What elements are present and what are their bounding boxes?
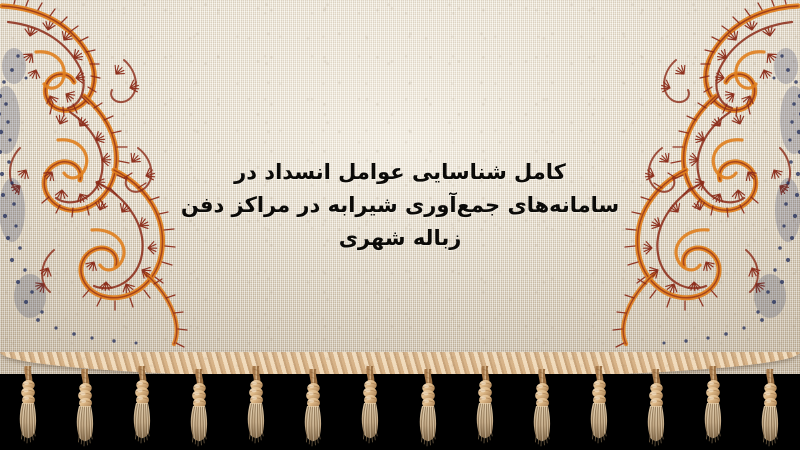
tassel-9: [469, 366, 503, 450]
tassel-7: [354, 366, 388, 450]
tassel-11: [583, 366, 617, 450]
tassel-8: [412, 369, 446, 450]
tassel-2: [69, 369, 103, 450]
title-line-2: سامانه‌های جمع‌آوری شیرابه در مراکز دفن: [0, 189, 800, 222]
tassel-10: [526, 369, 560, 450]
tassel-13: [697, 366, 731, 450]
tassel-4: [183, 369, 217, 450]
slide-title: کامل شناسایی عوامل انسداد در سامانه‌های …: [0, 156, 800, 255]
tassel-6: [297, 369, 331, 450]
title-line-1: کامل شناسایی عوامل انسداد در: [0, 156, 800, 189]
tassel-12: [640, 369, 674, 450]
tassel-fringe: [0, 366, 800, 450]
tassel-5: [240, 366, 274, 450]
tassel-1: [12, 366, 46, 450]
title-line-3: زباله شهری: [0, 222, 800, 255]
title-slide: کامل شناسایی عوامل انسداد در سامانه‌های …: [0, 0, 800, 450]
tassel-3: [126, 366, 160, 450]
tassel-14: [754, 369, 788, 450]
